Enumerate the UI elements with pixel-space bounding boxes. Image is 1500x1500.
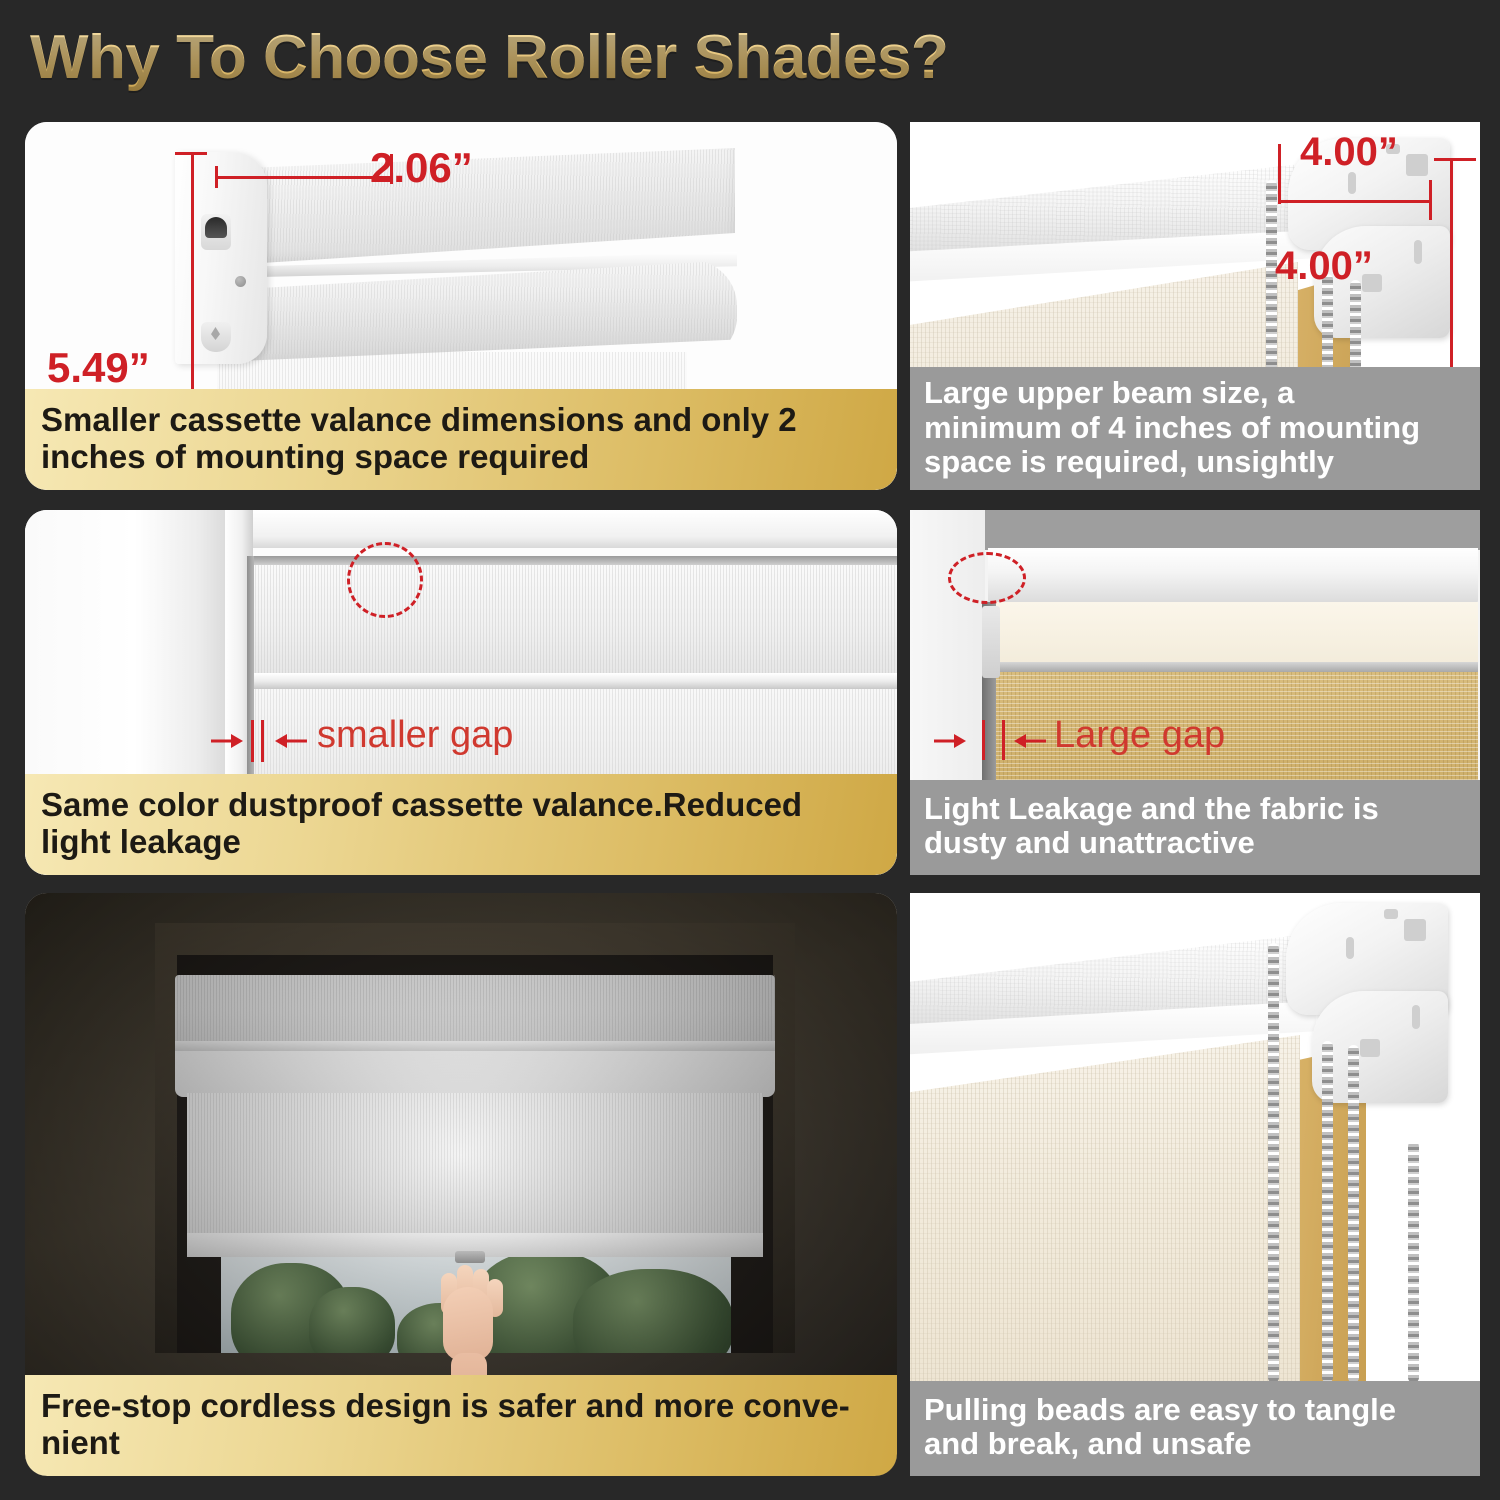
panel-cordless-design: Free-stop cordless design is safer and m…: [25, 893, 897, 1476]
highlight-circle-icon: [948, 552, 1026, 604]
caption-line: Pulling beads are easy to tangle: [924, 1393, 1466, 1428]
dimension-label-height: 4.00”: [1275, 244, 1373, 289]
bead-chain: [1268, 943, 1279, 1383]
infographic-page: Why To Choose Roller Shades? 2.06”: [0, 0, 1500, 1500]
gap-arrow-right-icon: [211, 732, 245, 750]
highlight-circle-icon: [347, 542, 423, 618]
panel-smaller-cassette: 2.06” 5.49” Smaller cassette valance dim…: [25, 122, 897, 490]
shade-fabric: [910, 1035, 1300, 1383]
page-title: Why To Choose Roller Shades?: [30, 22, 948, 93]
caption-line: Light Leakage and the fabric is: [924, 792, 1466, 827]
caption-line: Large upper beam size, a: [924, 376, 1466, 411]
caption-panel-4: Light Leakage and the fabric is dusty an…: [910, 780, 1480, 875]
screw-icon: [235, 276, 246, 287]
hand-illustration: [433, 1261, 505, 1381]
caption-panel-1: Smaller cassette valance dimensions and …: [25, 389, 897, 490]
latch-icon: [201, 322, 231, 352]
caption-line: and break, and unsafe: [924, 1427, 1466, 1462]
dimension-label-width: 4.00”: [1300, 130, 1398, 175]
caption-panel-2: Large upper beam size, a minimum of 4 in…: [910, 367, 1480, 490]
end-cap-slot: [201, 214, 231, 250]
caption-line: Smaller cassette valance dimensions and …: [41, 402, 881, 439]
caption-panel-3: Same color dustproof cassette valance.Re…: [25, 774, 897, 875]
caption-line: minimum of 4 inches of mounting: [924, 411, 1466, 446]
bead-chain: [1348, 1045, 1359, 1383]
caption-line: inches of mounting space required: [41, 439, 881, 476]
gap-arrow-left-icon: [1012, 732, 1046, 750]
caption-line: light leakage: [41, 824, 881, 861]
bead-chain: [1322, 1041, 1333, 1383]
gap-edge: [247, 556, 254, 811]
caption-line: nient: [41, 1425, 881, 1462]
panel-large-upper-beam: 4.00” 4.00” Large upper beam size, a min…: [910, 122, 1480, 490]
caption-line: dusty and unattractive: [924, 826, 1466, 861]
bead-chain: [1408, 1141, 1419, 1383]
dimension-label-width: 2.06”: [370, 144, 473, 192]
gap-label: smaller gap: [317, 714, 513, 757]
bracket-hook: [982, 606, 1000, 678]
dimension-label-height: 5.49”: [47, 344, 150, 392]
panel-dustproof-cassette: smaller gap Same color dustproof cassett…: [25, 510, 897, 875]
caption-line: Same color dustproof cassette valance.Re…: [41, 787, 881, 824]
gap-arrow-left-icon: [273, 732, 307, 750]
caption-line: Free-stop cordless design is safer and m…: [41, 1388, 881, 1425]
panel-light-leakage: Large gap Light Leakage and the fabric i…: [910, 510, 1480, 875]
panel-pulling-beads: Pulling beads are easy to tangle and bre…: [910, 893, 1480, 1476]
caption-line: space is required, unsightly: [924, 445, 1466, 480]
gap-label: Large gap: [1054, 714, 1225, 757]
caption-panel-5: Free-stop cordless design is safer and m…: [25, 1375, 897, 1476]
gap-arrow-right-icon: [934, 732, 968, 750]
upper-beam: [990, 602, 1478, 664]
caption-panel-6: Pulling beads are easy to tangle and bre…: [910, 1381, 1480, 1476]
